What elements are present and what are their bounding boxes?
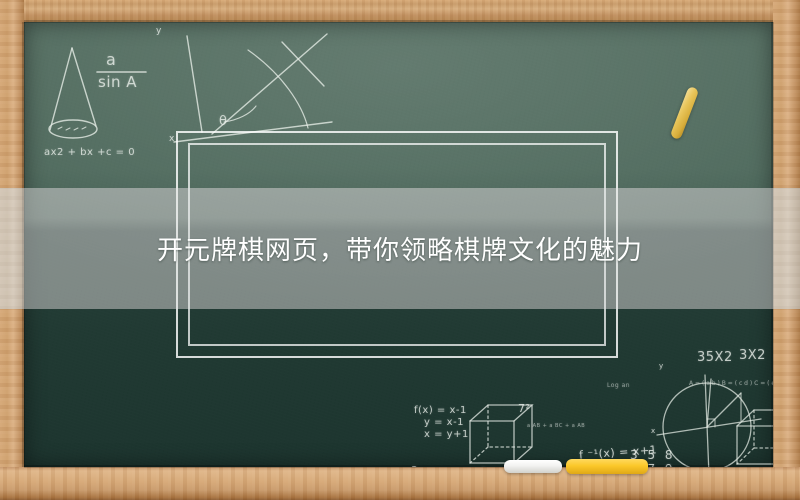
chalk-axis-label-x: x [169,134,175,144]
chalk-fx-line1: f(x) = x-1 [414,405,467,417]
chalk-fraction-numerator-a: a [106,50,116,69]
chalk-angle-label: θ [219,114,227,129]
chalk-stick-yellow-ledge [566,459,648,474]
chalk-log-label: Log an [607,382,630,389]
chalk-stick-white-ledge [504,460,562,473]
chalk-circle-axis-y: y [659,362,664,370]
chalk-axis-label-y: y [156,26,162,36]
wood-frame-bottom-ledge [0,467,800,500]
chalk-circle-axis-x: x [651,427,656,435]
chalk-quadratic-equation: ax2 + bx +c = 0 [44,147,135,158]
screenshot-root: a sin A y x θ ax2 + bx +c = 0 f(x) = x-1 [0,0,800,500]
frame-bevel-bottom [24,465,773,468]
cube-diagram-2 [732,404,773,467]
chalk-small-equation: a AB + a BC + a AB [527,423,585,429]
wood-frame-top [0,0,800,22]
overlay-band [0,188,800,309]
chalk-fx-line3: x = y+1 [424,429,469,440]
chalk-fx-line2: y = x-1 [424,417,464,428]
frame-bevel-top [24,20,773,23]
chalk-fraction-denominator-sinA: sin A [98,73,137,91]
cube-diagram [464,397,544,467]
chalk-power-7-squared: 7² [518,402,530,415]
